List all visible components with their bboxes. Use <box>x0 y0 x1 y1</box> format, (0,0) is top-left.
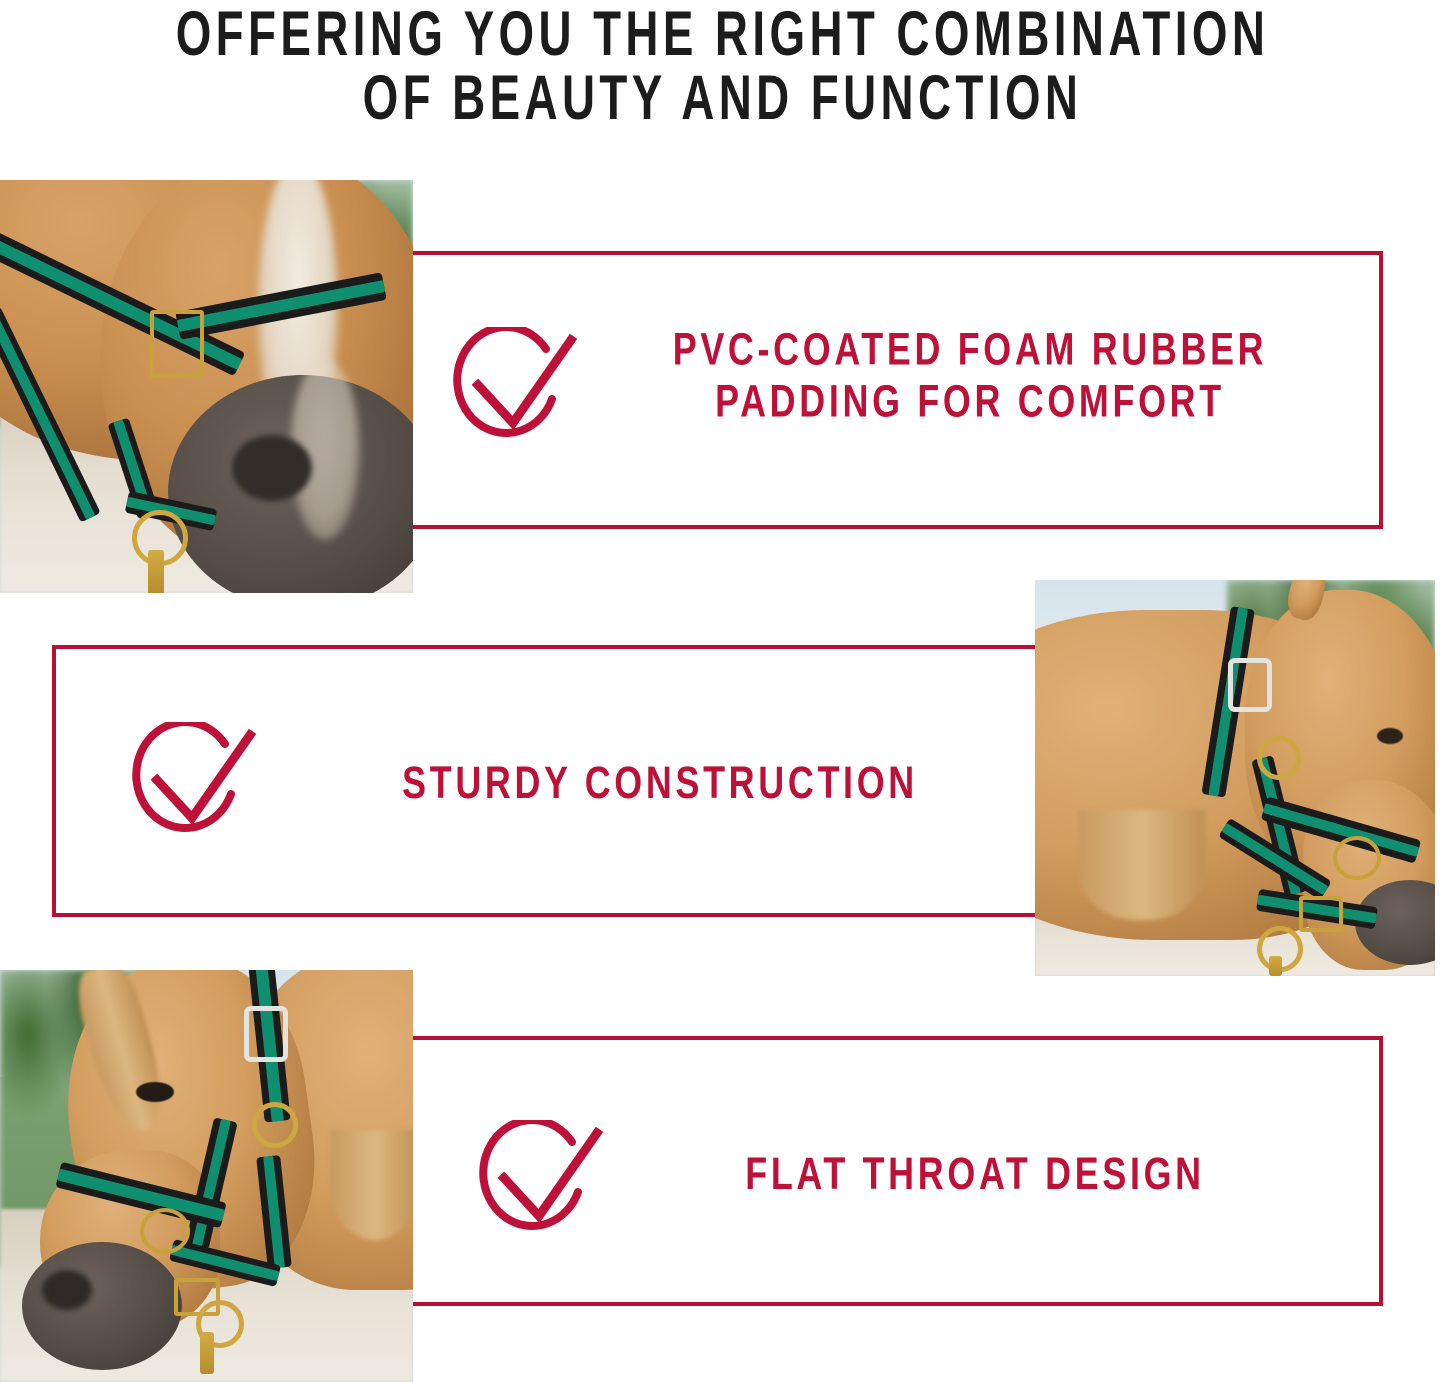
horse-nostril <box>42 1270 92 1310</box>
horse-eye <box>1377 728 1403 744</box>
check-circle-icon <box>131 722 257 840</box>
horse-mane <box>1079 810 1205 920</box>
halter-snap-clip <box>200 1332 214 1374</box>
halter-square-ring <box>1333 836 1381 880</box>
feature-3-label: FLAT THROAT DESIGN <box>658 1148 1293 1200</box>
halter-snap-clip <box>1269 956 1282 976</box>
halter-side-ring <box>252 1102 298 1148</box>
page-title-line-2: OF BEAUTY AND FUNCTION <box>87 53 1359 129</box>
feature-3-label-line-1: FLAT THROAT DESIGN <box>658 1148 1293 1200</box>
product-photo-muzzle-closeup <box>0 180 413 593</box>
feature-1-label-line-2: PADDING FOR COMFORT <box>630 376 1311 428</box>
check-circle-icon <box>452 327 578 445</box>
feature-2-label-line-1: STURDY CONSTRUCTION <box>320 757 1001 809</box>
product-photo-head-profile-right <box>1035 580 1435 976</box>
page-title: OFFERING YOU THE RIGHT COMBINATION OF BE… <box>0 0 1445 116</box>
feature-2-label: STURDY CONSTRUCTION <box>320 757 1001 809</box>
halter-square-ring <box>140 1208 190 1254</box>
halter-chin-buckle <box>1299 896 1343 932</box>
horse-mane <box>330 1130 413 1240</box>
product-photo-head-profile-left <box>0 970 413 1382</box>
halter-crown-buckle <box>1228 658 1272 712</box>
infographic-canvas: OFFERING YOU THE RIGHT COMBINATION OF BE… <box>0 0 1445 1382</box>
halter-snap-clip <box>148 550 164 593</box>
halter-side-ring <box>1257 736 1301 780</box>
feature-1-label-line-1: PVC-COATED FOAM RUBBER <box>630 324 1311 376</box>
halter-crown-buckle <box>244 1006 288 1062</box>
halter-square-ring <box>150 310 204 378</box>
horse-nostril <box>232 435 312 501</box>
feature-1-label: PVC-COATED FOAM RUBBER PADDING FOR COMFO… <box>630 324 1311 429</box>
horse-muzzle <box>22 1242 182 1370</box>
check-circle-icon <box>478 1120 604 1238</box>
horse-eye <box>136 1082 174 1102</box>
